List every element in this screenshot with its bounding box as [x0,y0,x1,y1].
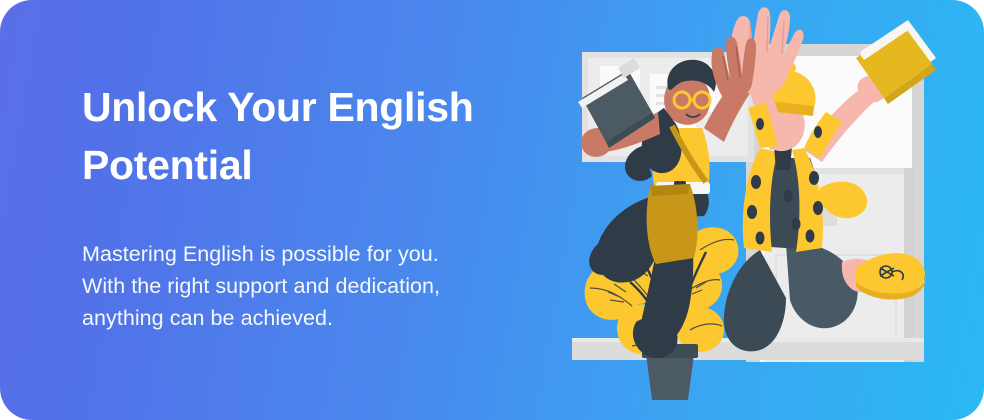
banner-text-block: Unlock Your English Potential Mastering … [82,78,552,334]
two-students-high-five-illustration [564,0,984,420]
page-title: Unlock Your English Potential [82,78,552,194]
promo-banner: Unlock Your English Potential Mastering … [0,0,984,420]
banner-subtext: Mastering English is possible for you. W… [82,194,552,334]
